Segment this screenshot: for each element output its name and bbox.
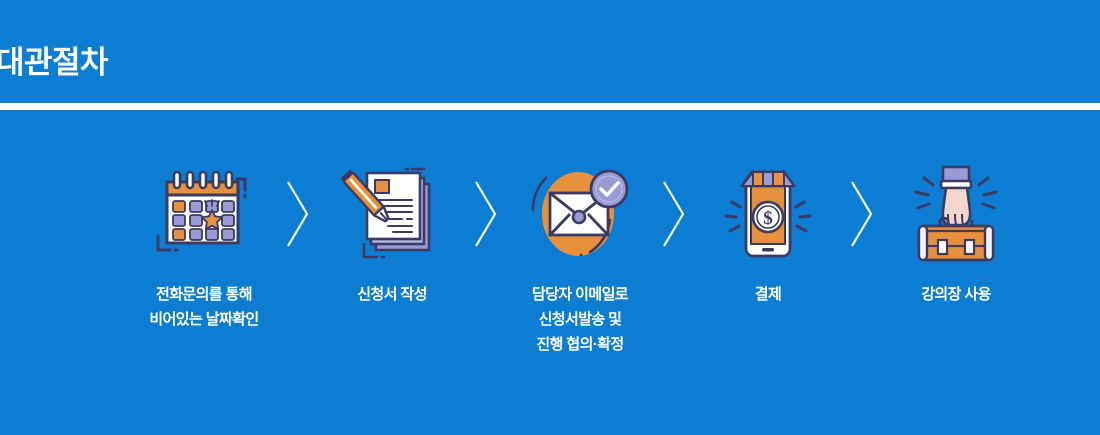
- mobile-payment-icon: $: [708, 160, 828, 268]
- process-step-4: $ 결제: [704, 160, 832, 307]
- banner-header: 대관절차: [0, 0, 1100, 103]
- process-banner: 대관절차: [0, 0, 1100, 435]
- email-verified-icon: [520, 160, 640, 268]
- process-step-1: 전화문의를 통해 비어있는 날짜확인: [140, 160, 268, 332]
- process-step-3: 담당자 이메일로 신청서발송 및 진행 협의·확정: [516, 160, 644, 357]
- chevron-right-icon: [464, 160, 508, 268]
- chevron-right-icon: [276, 160, 320, 268]
- chevron-right-icon: [840, 160, 884, 268]
- page-title: 대관절차: [0, 44, 108, 82]
- header-divider: [0, 103, 1100, 110]
- document-pen-icon: [332, 160, 452, 268]
- process-step-2: 신청서 작성: [328, 160, 456, 307]
- hand-briefcase-icon: [896, 160, 1016, 268]
- chevron-right-icon: [652, 160, 696, 268]
- calendar-star-icon: [144, 160, 264, 268]
- process-step-5-label: 강의장 사용: [921, 282, 991, 307]
- process-step-5: 강의장 사용: [892, 160, 1020, 307]
- process-steps: 전화문의를 통해 비어있는 날짜확인: [140, 160, 1020, 380]
- process-step-1-label: 전화문의를 통해 비어있는 날짜확인: [149, 282, 258, 332]
- process-step-2-label: 신청서 작성: [357, 282, 427, 307]
- svg-text:$: $: [763, 208, 773, 229]
- process-step-4-label: 결제: [755, 282, 781, 307]
- process-step-3-label: 담당자 이메일로 신청서발송 및 진행 협의·확정: [532, 282, 628, 357]
